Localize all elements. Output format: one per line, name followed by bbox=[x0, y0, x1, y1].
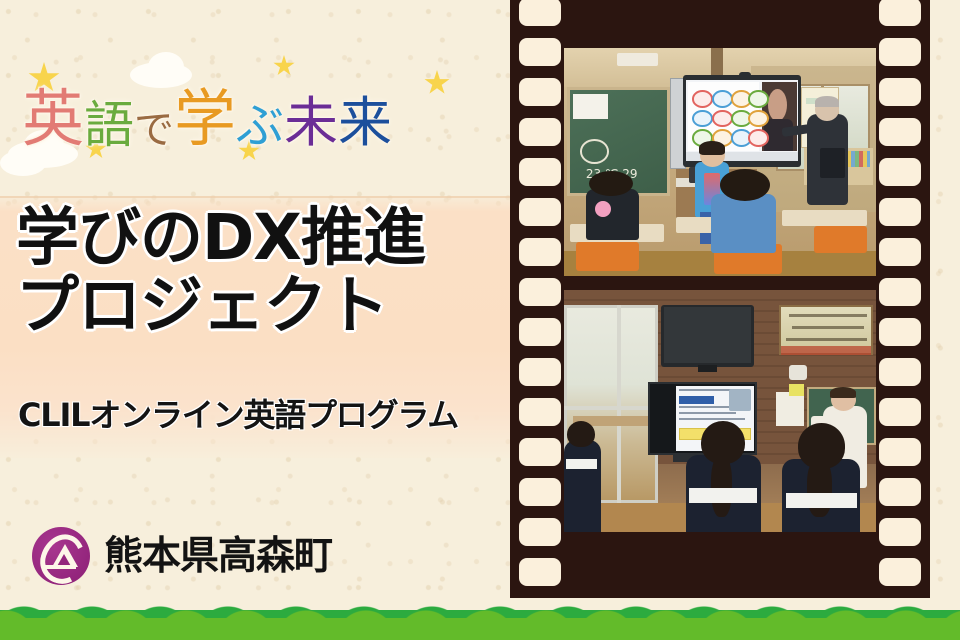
sprocket-hole bbox=[879, 518, 921, 546]
student-seated bbox=[711, 194, 777, 253]
sprocket-hole bbox=[519, 118, 561, 146]
filmstrip-frames: 23 ℃ 29 bbox=[562, 0, 878, 598]
camera-icon bbox=[739, 72, 751, 78]
sprocket-hole bbox=[519, 198, 561, 226]
sprocket-hole bbox=[879, 38, 921, 66]
town-logo: 熊本県高森町 bbox=[32, 527, 332, 585]
title-char-5: ぶ bbox=[236, 102, 284, 150]
filmstrip-sprockets-left bbox=[514, 0, 566, 598]
title-char-3: で bbox=[134, 110, 174, 150]
photo-elementary-online-english-lesson: 23 ℃ 29 bbox=[564, 48, 876, 276]
town-logo-label: 熊本県高森町 bbox=[104, 537, 332, 576]
sprocket-hole bbox=[879, 358, 921, 386]
student-figure bbox=[564, 440, 601, 532]
sprocket-hole bbox=[879, 198, 921, 226]
sprocket-hole bbox=[519, 358, 561, 386]
filmstrip-sprockets-right bbox=[874, 0, 926, 598]
title-char-2: 語 bbox=[84, 100, 134, 150]
filmstrip: 23 ℃ 29 bbox=[510, 0, 930, 598]
sprocket-hole bbox=[519, 0, 561, 26]
sprocket-hole bbox=[519, 518, 561, 546]
sprocket-hole bbox=[519, 278, 561, 306]
photo-frame-elementary: 23 ℃ 29 bbox=[564, 48, 876, 276]
sprocket-hole bbox=[879, 398, 921, 426]
title-char-7: 来 bbox=[338, 96, 392, 150]
headline-line-2: プロジェクト bbox=[16, 274, 516, 338]
photo-frame-junior-high bbox=[564, 290, 876, 532]
sprocket-hole bbox=[519, 398, 561, 426]
page-subtitle: CLILオンライン英語プログラム bbox=[18, 390, 518, 436]
title-char-1: 英 bbox=[22, 88, 84, 150]
takamori-town-emblem-icon bbox=[32, 527, 90, 585]
sprocket-hole bbox=[879, 118, 921, 146]
speaker-icon bbox=[789, 365, 808, 380]
page-title: 学びのDX推進 プロジェクト bbox=[16, 206, 516, 339]
title-char-6: 未 bbox=[284, 96, 338, 150]
hill-front-fill bbox=[0, 618, 960, 640]
sprocket-hole bbox=[519, 438, 561, 466]
student-seated bbox=[586, 189, 639, 239]
sprocket-hole bbox=[879, 158, 921, 186]
sprocket-hole bbox=[519, 478, 561, 506]
sprocket-hole bbox=[879, 318, 921, 346]
decorative-title: 英 語 で 学 ぶ 未 来 bbox=[22, 88, 392, 150]
sprocket-hole bbox=[879, 0, 921, 26]
sprocket-hole bbox=[879, 438, 921, 466]
grass-hills-decoration bbox=[0, 578, 960, 640]
photo-junior-high-clil-lesson bbox=[564, 290, 876, 532]
poster-canvas: 英 語 で 学 ぶ 未 来 学びのDX推進 プロジェクト CLILオンライン英語… bbox=[0, 0, 960, 640]
sprocket-hole bbox=[519, 238, 561, 266]
sprocket-hole bbox=[519, 158, 561, 186]
sprocket-hole bbox=[879, 278, 921, 306]
sprocket-hole bbox=[879, 238, 921, 266]
sprocket-hole bbox=[879, 478, 921, 506]
title-char-4: 学 bbox=[174, 88, 236, 150]
sprocket-hole bbox=[519, 78, 561, 106]
sprocket-hole bbox=[879, 78, 921, 106]
headline-line-1: 学びのDX推進 bbox=[16, 206, 516, 270]
cloud-icon bbox=[148, 52, 184, 82]
headline-accent-band-topline bbox=[0, 196, 520, 198]
sprocket-hole bbox=[519, 318, 561, 346]
sprocket-hole bbox=[519, 38, 561, 66]
